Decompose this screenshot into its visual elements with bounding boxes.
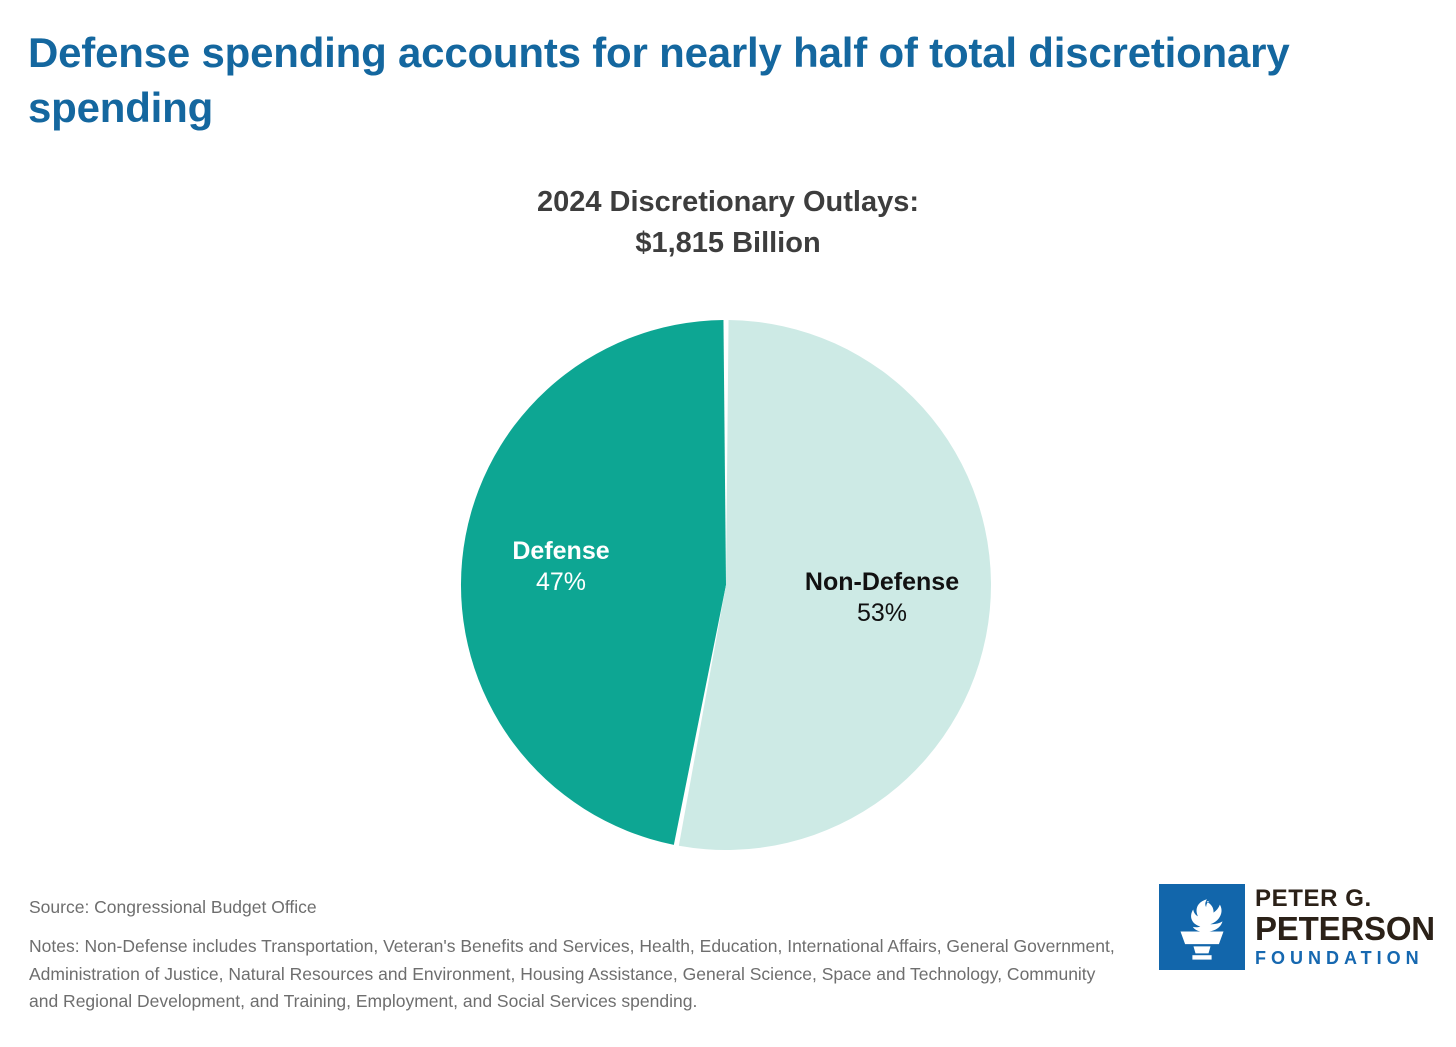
- logo-wordmark: PETER G. PETERSON FOUNDATION: [1255, 886, 1427, 970]
- page-title: Defense spending accounts for nearly hal…: [28, 26, 1418, 135]
- pie-chart: Defense 47% Non-Defense 53%: [0, 300, 1456, 870]
- torch-icon: [1159, 884, 1245, 970]
- pie-slice-defense[interactable]: [461, 320, 726, 845]
- chart-subtitle-line-1: 2024 Discretionary Outlays:: [0, 182, 1456, 223]
- chart-subtitle: 2024 Discretionary Outlays: $1,815 Billi…: [0, 182, 1456, 264]
- source-note: Source: Congressional Budget Office: [29, 895, 317, 920]
- pie-chart-svg: [441, 300, 1011, 870]
- footnote-notes: Notes: Non-Defense includes Transportati…: [29, 933, 1119, 1016]
- logo-line-foundation: FOUNDATION: [1255, 946, 1427, 970]
- chart-subtitle-line-2: $1,815 Billion: [0, 223, 1456, 264]
- peterson-foundation-logo: PETER G. PETERSON FOUNDATION: [1159, 884, 1427, 976]
- logo-line-peter-g: PETER G.: [1255, 886, 1427, 912]
- logo-line-peterson: PETERSON: [1255, 912, 1427, 946]
